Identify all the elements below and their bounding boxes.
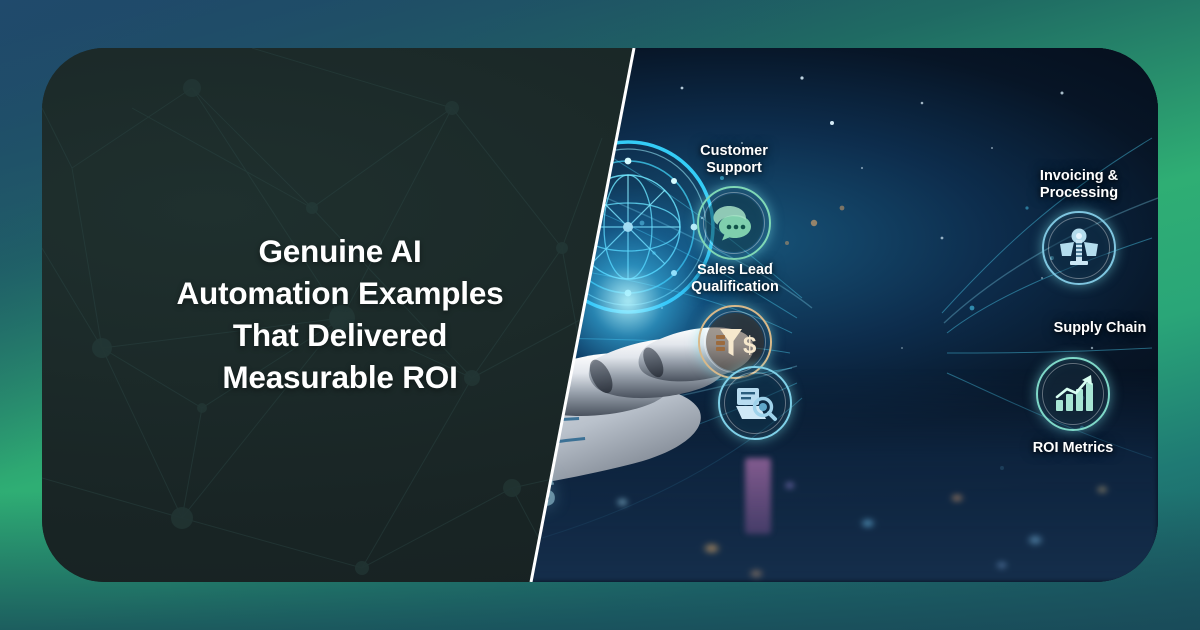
customer-support-label-line1: Customer [700,143,768,159]
supply-chain-label: Supply Chain [1054,320,1147,337]
share-card: Genuine AI Automation Examples That Deli… [42,48,1158,582]
node-invoicing-processing[interactable]: Invoicing & Processing [1042,211,1116,285]
node-document-search[interactable] [718,366,792,440]
roi-metrics-label: ROI Metrics [1033,440,1114,457]
node-customer-support[interactable]: Customer Support [697,186,771,260]
bar-chart-growth-icon [1051,373,1095,415]
invoicing-label: Invoicing & Processing [1040,168,1118,202]
node-roi-metrics[interactable]: ROI Metrics [1036,357,1110,431]
document-search-ring [718,366,792,440]
customer-support-label: Customer Support [700,143,768,177]
invoice-scale-icon [1057,226,1101,270]
chat-bubbles-icon [712,201,756,245]
invoicing-label-line1: Invoicing & [1040,168,1118,184]
sales-lead-label-line1: Sales Lead [697,262,773,278]
svg-text:$: $ [743,332,757,359]
funnel-dollar-icon: $ [712,320,758,364]
sales-lead-label-line2: Qualification [691,279,779,295]
title-container: Genuine AI Automation Examples That Deli… [42,48,602,582]
invoicing-label-line2: Processing [1040,185,1118,201]
sales-lead-label: Sales Lead Qualification [691,262,779,296]
page-title: Genuine AI Automation Examples That Deli… [170,231,510,399]
customer-support-ring [697,186,771,260]
roi-metrics-ring [1036,357,1110,431]
customer-support-label-line2: Support [706,160,762,176]
document-search-icon [733,382,777,424]
node-supply-chain[interactable]: Supply Chain [1100,320,1158,337]
invoicing-ring [1042,211,1116,285]
